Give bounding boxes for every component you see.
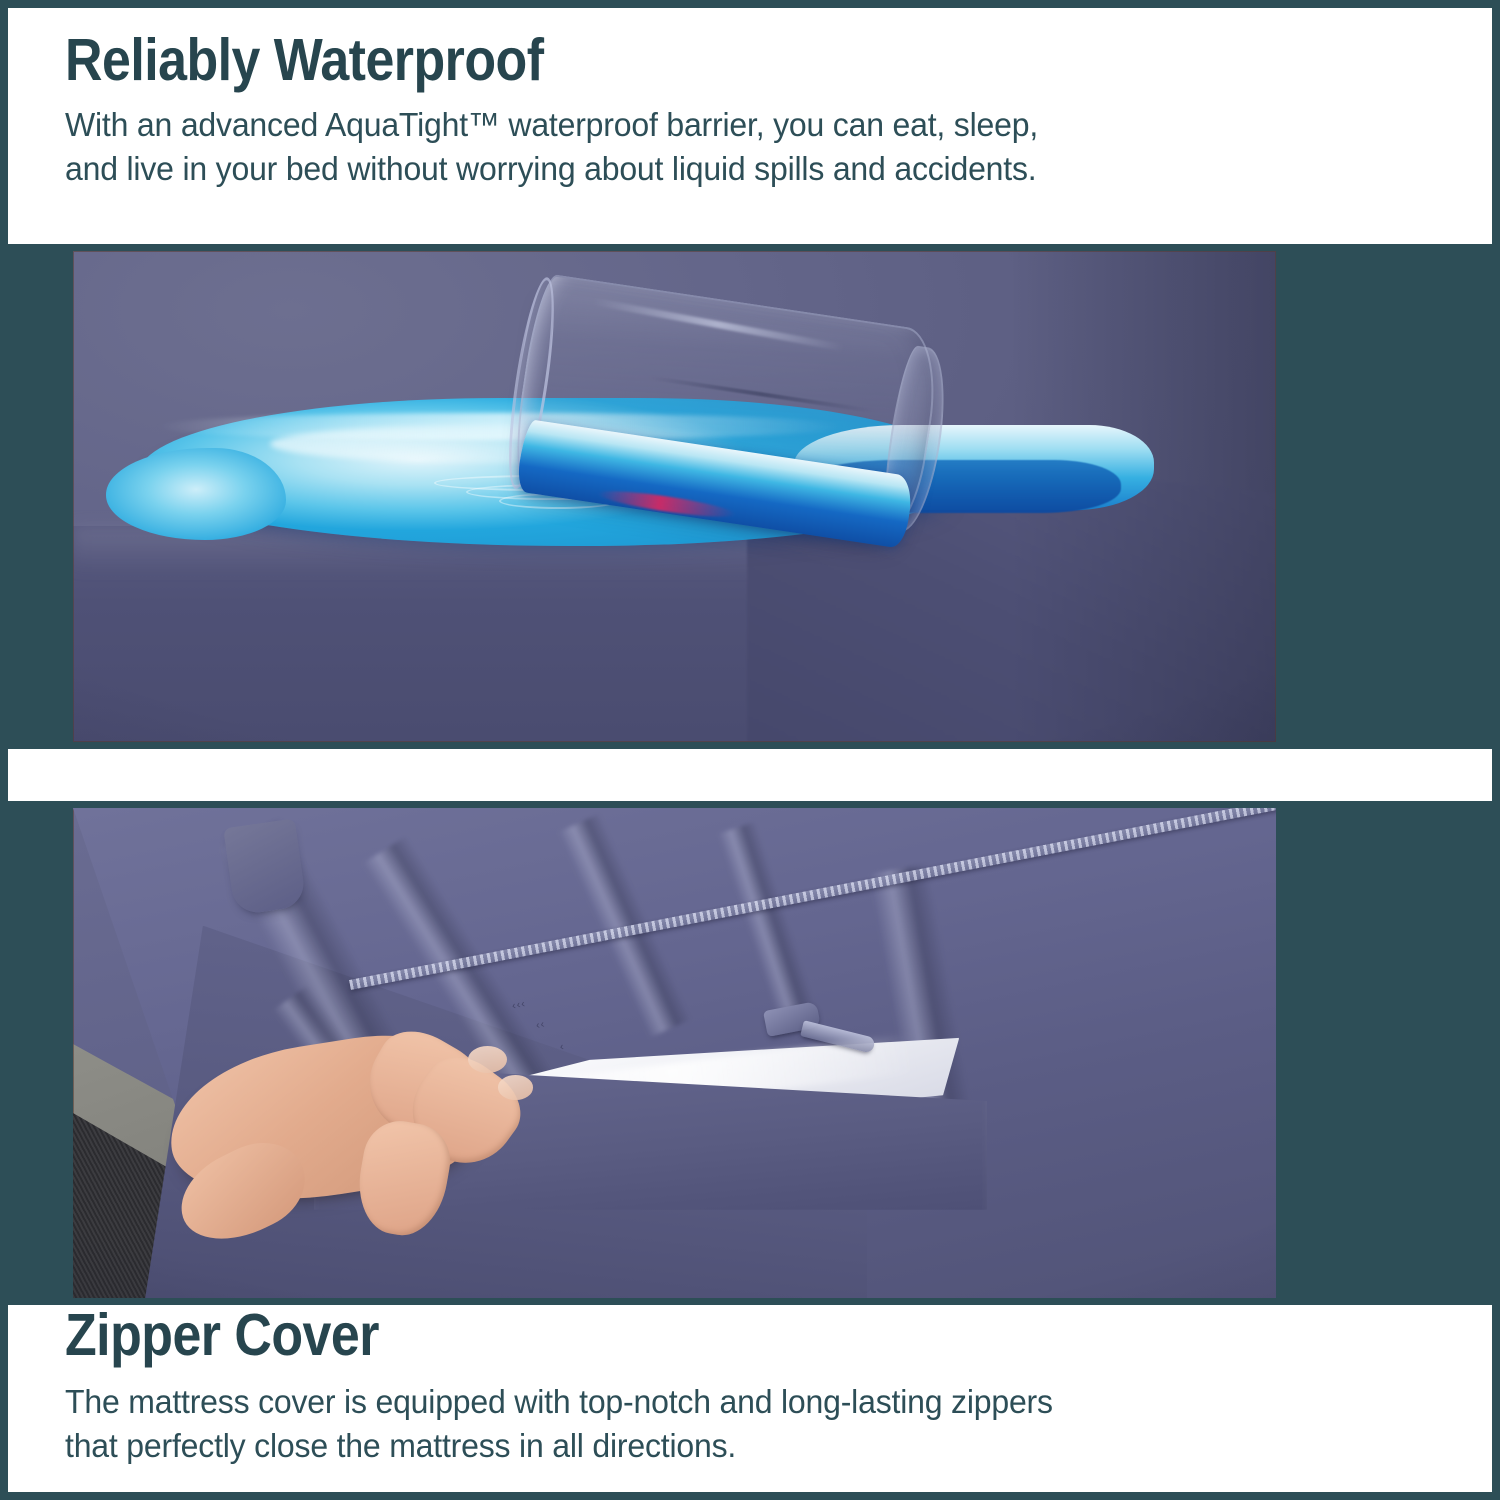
bottom-description-line-1: The mattress cover is equipped with top-… <box>65 1381 1380 1425</box>
top-description-line-2: and live in your bed without worrying ab… <box>65 148 1380 192</box>
page-title-zipper-cover: Zipper Cover <box>65 1305 1277 1365</box>
bottom-text-block: Zipper Cover The mattress cover is equip… <box>65 1305 1442 1468</box>
waterproof-spill-photo <box>73 251 1276 742</box>
hand-lifting-cover <box>169 1024 602 1269</box>
bottom-description: The mattress cover is equipped with top-… <box>65 1381 1380 1468</box>
fingernail <box>498 1075 533 1100</box>
infographic-page: Reliably Waterproof With an advanced Aqu… <box>0 0 1500 1500</box>
top-image-band <box>8 244 1492 749</box>
puddle-lobe <box>106 448 286 539</box>
bottom-image-band: ‹‹‹ ‹‹ ‹ <box>8 801 1492 1305</box>
page-title-waterproof: Reliably Waterproof <box>65 30 1277 90</box>
fingernail <box>468 1046 507 1073</box>
zipper-cover-photo: ‹‹‹ ‹‹ ‹ <box>73 808 1276 1298</box>
bottom-description-line-2: that perfectly close the mattress in all… <box>65 1425 1380 1469</box>
top-description: With an advanced AquaTight™ waterproof b… <box>65 104 1380 191</box>
mattress-corner-tab <box>224 818 308 915</box>
top-text-block: Reliably Waterproof With an advanced Aqu… <box>65 30 1442 191</box>
top-description-line-1: With an advanced AquaTight™ waterproof b… <box>65 104 1380 148</box>
